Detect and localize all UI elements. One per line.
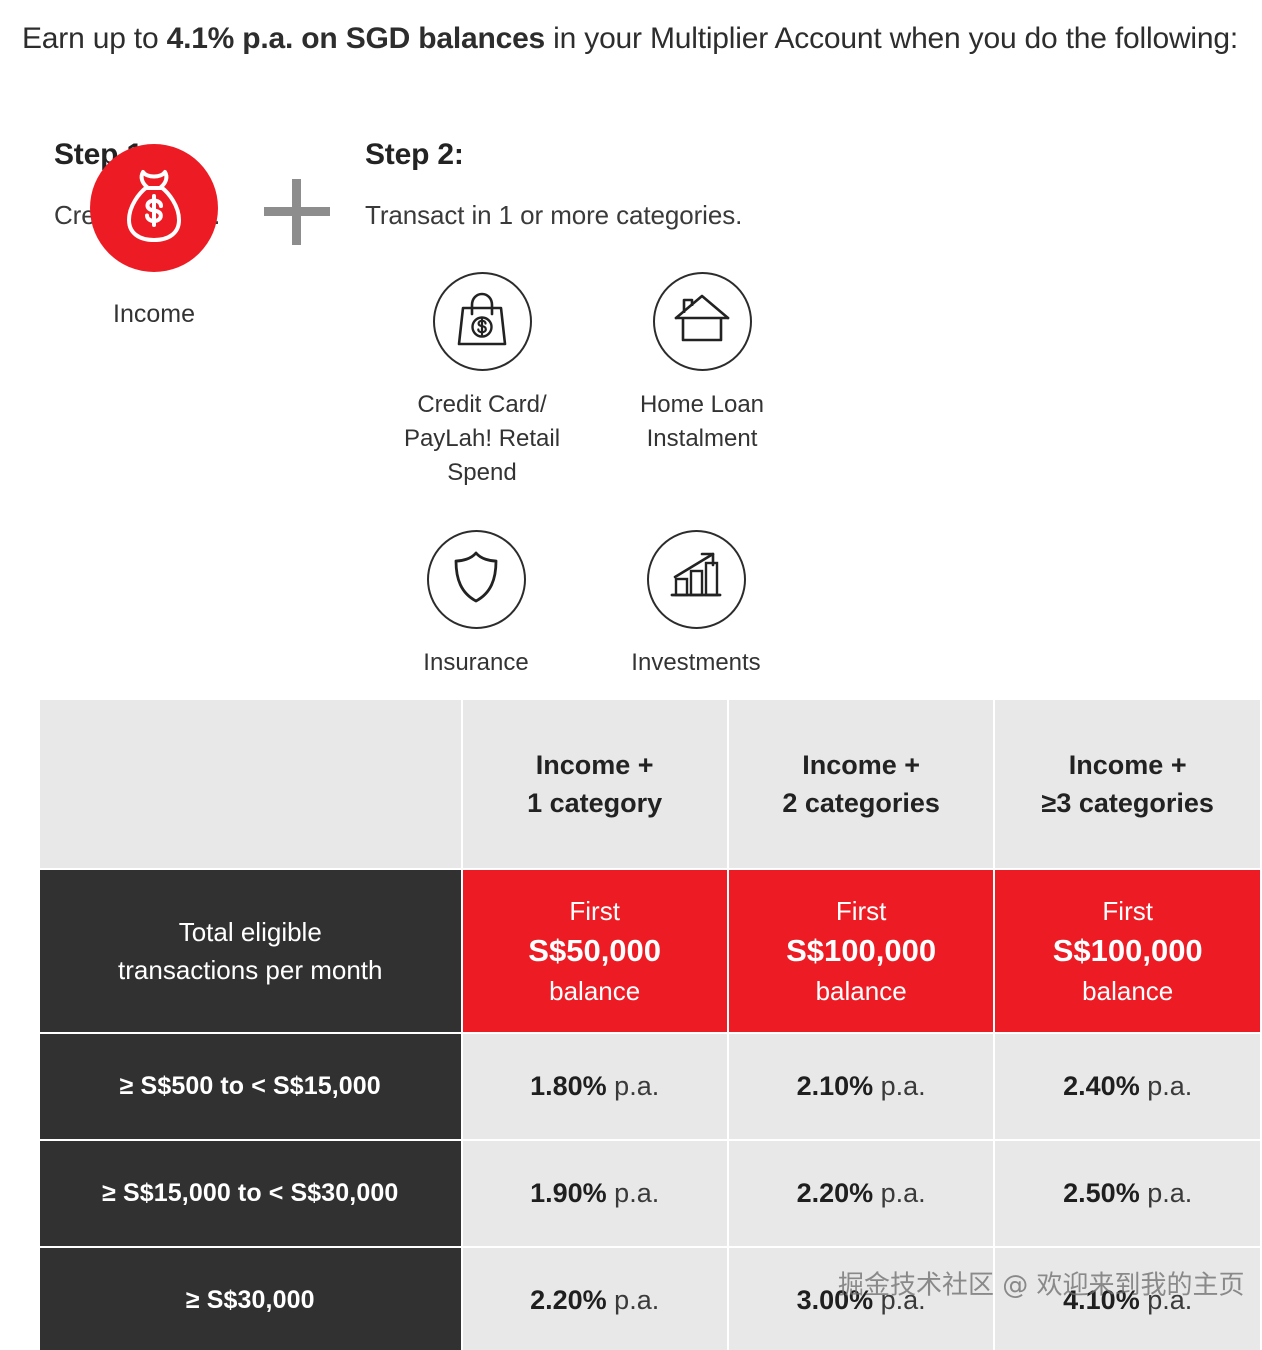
income-label: Income bbox=[54, 300, 254, 329]
rate-pa: p.a. bbox=[607, 1071, 660, 1101]
balance-suffix: balance bbox=[816, 976, 907, 1006]
category-investments: Investments bbox=[586, 530, 806, 680]
rate-cell: 2.40% p.a. bbox=[995, 1034, 1260, 1139]
rate-pa: p.a. bbox=[873, 1285, 926, 1315]
shopping-bag-dollar-icon bbox=[454, 290, 510, 353]
balance-row-label: Total eligible transactions per month bbox=[40, 870, 461, 1032]
rate-cell: 1.90% p.a. bbox=[463, 1141, 727, 1246]
rate-percent: 2.10% bbox=[797, 1071, 874, 1101]
rate-pa: p.a. bbox=[1140, 1178, 1193, 1208]
category-icon-circle bbox=[653, 272, 752, 371]
rate-pa: p.a. bbox=[1140, 1071, 1193, 1101]
rate-percent: 4.10% bbox=[1063, 1285, 1140, 1315]
rate-percent: 3.00% bbox=[797, 1285, 874, 1315]
rate-cell: 2.20% p.a. bbox=[463, 1248, 727, 1350]
plus-icon bbox=[264, 179, 330, 245]
rate-percent: 2.20% bbox=[797, 1178, 874, 1208]
rate-cell: 1.80% p.a. bbox=[463, 1034, 727, 1139]
intro-highlight: 4.1% p.a. on SGD balances bbox=[167, 22, 545, 55]
balance-cell-2-categories: First S$100,000 balance bbox=[729, 870, 994, 1032]
header-income-2-categories: Income + 2 categories bbox=[729, 700, 994, 868]
balance-cell-3-categories: First S$100,000 balance bbox=[995, 870, 1260, 1032]
income-icon-circle bbox=[90, 144, 218, 272]
bar-chart-arrow-icon bbox=[667, 549, 725, 610]
category-icon-circle bbox=[433, 272, 532, 371]
table-row: ≥ S$30,000 2.20% p.a. 3.00% p.a. 4.10% p… bbox=[40, 1248, 1260, 1350]
page-intro-text: Earn up to 4.1% p.a. on SGD balances in … bbox=[22, 18, 1252, 60]
category-credit-card: Credit Card/ PayLah! Retail Spend bbox=[372, 272, 592, 490]
header-income-1-category: Income + 1 category bbox=[463, 700, 727, 868]
rate-cell: 2.20% p.a. bbox=[729, 1141, 994, 1246]
income-block: Income bbox=[54, 144, 330, 329]
balance-first-word: First bbox=[569, 896, 620, 926]
rate-cell: 2.50% p.a. bbox=[995, 1141, 1260, 1246]
category-row-2: Insurance Investments bbox=[366, 530, 832, 680]
tier-label: ≥ S$15,000 to < S$30,000 bbox=[40, 1141, 461, 1246]
balance-suffix: balance bbox=[549, 976, 640, 1006]
table-balance-row: Total eligible transactions per month Fi… bbox=[40, 870, 1260, 1032]
table-row: ≥ S$15,000 to < S$30,000 1.90% p.a. 2.20… bbox=[40, 1141, 1260, 1246]
rate-cell: 2.10% p.a. bbox=[729, 1034, 994, 1139]
table-row: ≥ S$500 to < S$15,000 1.80% p.a. 2.10% p… bbox=[40, 1034, 1260, 1139]
rate-pa: p.a. bbox=[1140, 1285, 1193, 1315]
rate-pa: p.a. bbox=[607, 1178, 660, 1208]
intro-after: in your Multiplier Account when you do t… bbox=[545, 22, 1238, 55]
table-header-row: Income + 1 category Income + 2 categorie… bbox=[40, 700, 1260, 868]
interest-rate-table: Income + 1 category Income + 2 categorie… bbox=[38, 698, 1262, 1350]
balance-amount: S$100,000 bbox=[729, 931, 994, 971]
category-row-1: Credit Card/ PayLah! Retail Spend Home L… bbox=[372, 272, 832, 490]
category-label: Insurance bbox=[366, 646, 586, 680]
multiplier-account-infographic: Earn up to 4.1% p.a. on SGD balances in … bbox=[0, 0, 1262, 1350]
balance-cell-1-category: First S$50,000 balance bbox=[463, 870, 727, 1032]
balance-first-word: First bbox=[1102, 896, 1153, 926]
category-icon-circle bbox=[647, 530, 746, 629]
shield-icon bbox=[451, 549, 501, 610]
category-icon-circle bbox=[427, 530, 526, 629]
category-home-loan: Home Loan Instalment bbox=[592, 272, 812, 490]
balance-first-word: First bbox=[836, 896, 887, 926]
rate-percent: 1.90% bbox=[530, 1178, 607, 1208]
income-item: Income bbox=[54, 144, 254, 329]
step-2-title: Step 2: bbox=[365, 138, 865, 172]
money-bag-icon bbox=[116, 166, 192, 251]
rate-percent: 1.80% bbox=[530, 1071, 607, 1101]
rate-cell: 4.10% p.a. bbox=[995, 1248, 1260, 1350]
tier-label: ≥ S$30,000 bbox=[40, 1248, 461, 1350]
category-insurance: Insurance bbox=[366, 530, 586, 680]
rate-cell: 3.00% p.a. bbox=[729, 1248, 994, 1350]
category-label: Credit Card/ PayLah! Retail Spend bbox=[372, 388, 592, 490]
balance-amount: S$100,000 bbox=[995, 931, 1260, 971]
house-icon bbox=[673, 292, 731, 351]
rate-percent: 2.40% bbox=[1063, 1071, 1140, 1101]
rate-percent: 2.20% bbox=[530, 1285, 607, 1315]
category-label: Investments bbox=[586, 646, 806, 680]
header-blank-cell bbox=[40, 700, 461, 868]
header-income-3-categories: Income + ≥3 categories bbox=[995, 700, 1260, 868]
rate-pa: p.a. bbox=[873, 1071, 926, 1101]
category-label: Home Loan Instalment bbox=[592, 388, 812, 456]
rate-pa: p.a. bbox=[607, 1285, 660, 1315]
category-grid: Credit Card/ PayLah! Retail Spend Home L… bbox=[372, 272, 832, 680]
rate-percent: 2.50% bbox=[1063, 1178, 1140, 1208]
step-2-block: Step 2: Transact in 1 or more categories… bbox=[365, 138, 865, 231]
step-2-subtitle: Transact in 1 or more categories. bbox=[365, 200, 865, 231]
rate-pa: p.a. bbox=[873, 1178, 926, 1208]
tier-label: ≥ S$500 to < S$15,000 bbox=[40, 1034, 461, 1139]
intro-before: Earn up to bbox=[22, 22, 167, 55]
balance-amount: S$50,000 bbox=[463, 931, 727, 971]
balance-suffix: balance bbox=[1082, 976, 1173, 1006]
